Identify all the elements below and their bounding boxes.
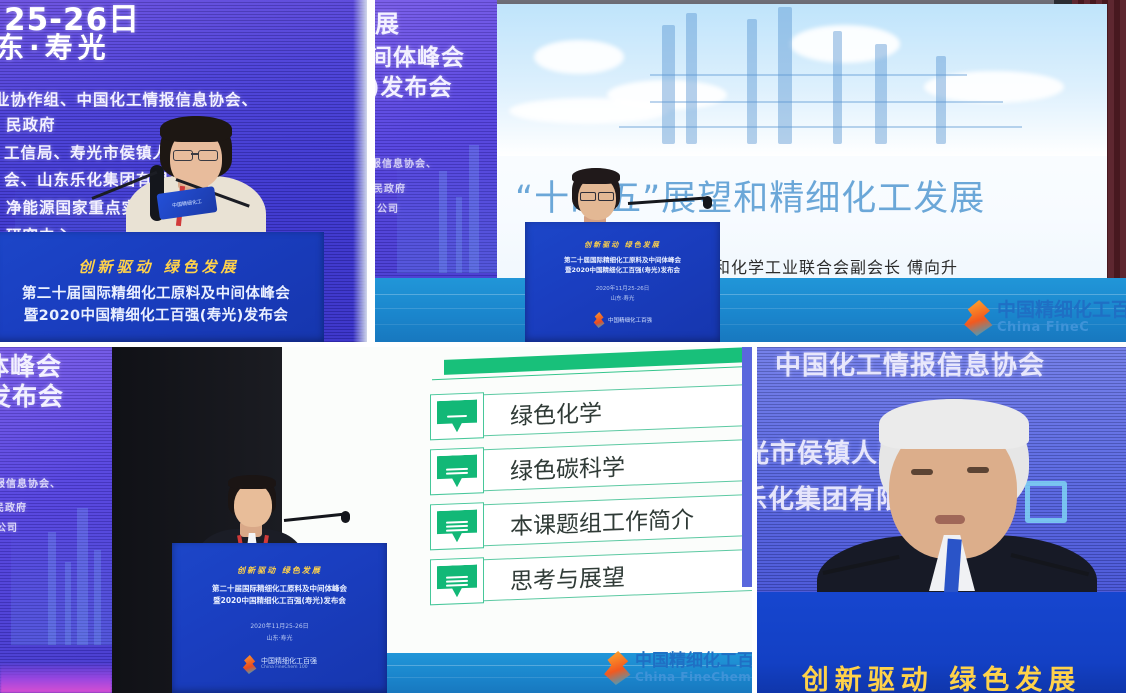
photo-collage: 25-26日 东·寿光 业协作组、中国化工情报信息协会、 民政府 工信局、寿光市… <box>0 0 1126 693</box>
tr-backdrop-line-1: 间体峰会 <box>375 38 465 72</box>
podium-logo-en: China FineChem 100 <box>261 666 317 671</box>
podium-date: 2020年11月25-26日 <box>172 621 387 630</box>
podium-date: 2020年11月25-26日 <box>525 284 720 292</box>
flame-icon <box>242 655 257 674</box>
tr-backdrop-line-0: 展 <box>375 4 400 39</box>
backdrop-line-3: 民政府 <box>6 113 56 135</box>
podium-line-2: 暨2020中国精细化工百强(寿光)发布会 <box>0 304 324 325</box>
agenda-label-text: 绿色化学 <box>510 394 602 432</box>
watermark-en: China FineChem <box>635 671 752 684</box>
agenda-row: 绿色化学 <box>430 381 752 442</box>
flame-icon <box>603 651 631 685</box>
flame-icon <box>593 312 605 328</box>
podium-line-2: 暨2020中国精细化工百强(寿光)发布会 <box>172 595 387 606</box>
agenda-label: 本课题组工作简介 <box>484 494 752 547</box>
podium: 创新驱动 绿色发展 第二十届国际精细化工原料及中间体峰会 暨2020中国精细化工… <box>172 543 387 693</box>
slide-top-accent-bar <box>444 347 752 375</box>
tr-backdrop-line-4: 民政府 <box>375 180 406 195</box>
flame-icon <box>963 300 993 336</box>
podium-slogan: 创新驱动 绿色发展 <box>172 565 387 576</box>
panel-top-left: 25-26日 东·寿光 业协作组、中国化工情报信息协会、 民政府 工信局、寿光市… <box>0 0 367 342</box>
podium-place: 山东·寿光 <box>172 633 387 642</box>
panel-bottom-right: 中国化工情报信息协会 光市侯镇人民政府 乐化集团有限公司 创新驱动 绿色发展 <box>757 347 1126 693</box>
agenda-label-text: 思考与展望 <box>510 558 625 596</box>
gutter-horizontal <box>0 342 1126 347</box>
gutter-vertical-top <box>367 0 375 342</box>
podium-place: 山东·寿光 <box>525 294 720 302</box>
podium-slogan: 创新驱动 绿色发展 <box>525 240 720 250</box>
panel-bottom-left: 体峰会 发布会 情报信息协会、 民政府 公司 绿色化学 <box>0 347 752 693</box>
podium-line-1: 第二十届国际精细化工原料及中间体峰会 <box>172 583 387 594</box>
agenda-row: 思考与展望 <box>430 546 752 607</box>
slide-header-image <box>497 4 1107 156</box>
podium-logo: 中国精细化工百强 <box>593 312 652 328</box>
podium-line-1: 第二十届国际精细化工原料及中间体峰会 <box>525 254 720 264</box>
tr-backdrop-line-3: 报信息协会、 <box>375 155 437 170</box>
bl-backdrop-line-1: 发布会 <box>0 377 64 413</box>
podium-slogan: 创新驱动 绿色发展 <box>0 256 324 277</box>
backdrop-line-1: 东·寿光 <box>0 26 111 66</box>
watermark: 中国精细化工百 China FineChem <box>603 651 752 685</box>
agenda-label-text: 本课题组工作简介 <box>510 500 694 541</box>
watermark: 中国精细化工百 China FineC <box>963 300 1126 336</box>
speaker-figure <box>120 120 270 240</box>
tr-backdrop-line-5: 公司 <box>377 200 399 215</box>
agenda-row: 绿色碳科学 <box>430 436 752 497</box>
agenda-number-icon <box>430 447 484 495</box>
agenda-number-icon <box>430 392 484 440</box>
agenda-label: 思考与展望 <box>484 549 752 602</box>
watermark-cn: 中国精细化工百 <box>635 653 752 671</box>
podium-slogan: 创新驱动 绿色发展 <box>757 658 1126 693</box>
podium-line-1: 第二十届国际精细化工原料及中间体峰会 <box>0 282 324 303</box>
tr-backdrop-line-2: )发布会 <box>375 68 453 102</box>
led-backdrop-right-sliver <box>742 347 752 587</box>
watermark-cn: 中国精细化工百 <box>997 301 1126 321</box>
agenda-label: 绿色碳科学 <box>484 439 752 492</box>
speaker-figure <box>827 405 1077 605</box>
agenda-number-icon <box>430 557 484 605</box>
mic-badge-text: 中国精细化工 <box>172 197 203 208</box>
microphone <box>703 196 712 209</box>
bl-backdrop-line-4: 公司 <box>0 519 18 534</box>
bl-backdrop-line-3: 民政府 <box>0 499 27 514</box>
br-backdrop-line-0: 中国化工情报信息协会 <box>775 347 1045 382</box>
backdrop-line-2: 业协作组、中国化工情报信息协会、 <box>0 88 258 110</box>
agenda-number-icon <box>430 502 484 550</box>
watermark-en: China FineC <box>997 321 1126 335</box>
microphone <box>341 511 350 523</box>
podium-line-2: 暨2020中国精细化工百强(寿光)发布会 <box>525 264 720 274</box>
podium: 创新驱动 绿色发展 第二十届国际精细化工原料及中间体峰会 暨2020中国精细化工… <box>0 232 324 342</box>
agenda-label-text: 绿色碳科学 <box>510 448 625 486</box>
led-backdrop-strip: 体峰会 发布会 情报信息协会、 民政府 公司 <box>0 347 112 693</box>
agenda-label: 绿色化学 <box>484 384 752 437</box>
agenda-row: 本课题组工作简介 <box>430 491 752 552</box>
podium: 创新驱动 绿色发展 第二十届国际精细化工原料及中间体峰会 暨2020中国精细化工… <box>525 222 720 342</box>
gutter-vertical-bottom <box>752 347 757 693</box>
led-backdrop-strip: 展 间体峰会 )发布会 报信息协会、 民政府 公司 <box>375 0 497 318</box>
podium-logo: 中国精细化工百强 China FineChem 100 <box>242 655 317 674</box>
panel-top-right: 展 间体峰会 )发布会 报信息协会、 民政府 公司 <box>375 0 1126 342</box>
bl-backdrop-line-2: 情报信息协会、 <box>0 475 61 490</box>
